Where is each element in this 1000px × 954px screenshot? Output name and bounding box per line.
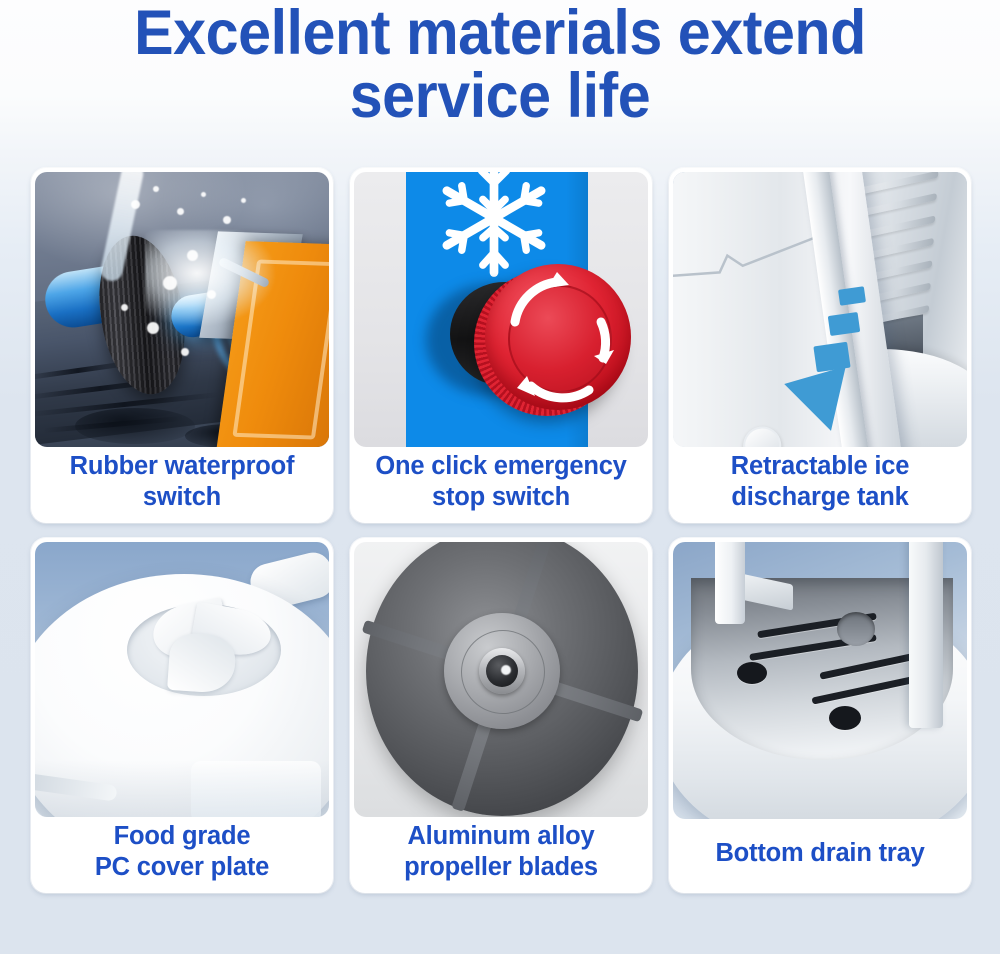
water-droplet bbox=[207, 290, 216, 299]
water-droplet bbox=[147, 322, 159, 334]
card-caption: Food grade PC cover plate bbox=[31, 817, 333, 893]
feature-card-rubber-waterproof-switch: Rubber waterproof switch bbox=[31, 168, 333, 523]
transparent-body bbox=[191, 761, 321, 817]
page-title: Excellent materials extend service life bbox=[30, 2, 970, 128]
drain-hole bbox=[737, 662, 767, 684]
feature-card-food-grade-pc-cover-plate: Food grade PC cover plate bbox=[31, 538, 333, 893]
arrow-dash bbox=[828, 312, 860, 336]
card-caption: One click emergency stop switch bbox=[350, 447, 652, 523]
card-caption: Retractable ice discharge tank bbox=[669, 447, 971, 523]
rotation-arrows-icon bbox=[485, 264, 631, 410]
infographic-page: Excellent materials extend service life bbox=[0, 0, 1000, 954]
water-droplet bbox=[131, 200, 140, 209]
feature-card-retractable-ice-discharge-tank: Retractable ice discharge tank bbox=[669, 168, 971, 523]
water-droplet bbox=[121, 304, 128, 311]
support-post-right bbox=[909, 542, 943, 728]
bottom-drain-tray-photo bbox=[673, 542, 967, 819]
chute-release-tab[interactable] bbox=[741, 424, 784, 447]
card-caption: Rubber waterproof switch bbox=[31, 447, 333, 523]
drain-hole bbox=[829, 706, 861, 730]
water-pool bbox=[75, 408, 195, 444]
support-post-left bbox=[715, 542, 745, 624]
water-droplet bbox=[177, 208, 184, 215]
rubber-waterproof-switch-photo bbox=[35, 172, 329, 447]
drain-slot bbox=[811, 674, 922, 704]
food-grade-pc-cover-plate-photo bbox=[35, 542, 329, 817]
water-droplet bbox=[241, 198, 246, 203]
feature-card-aluminum-alloy-propeller-blades: Aluminum alloy propeller blades bbox=[350, 538, 652, 893]
aluminum-alloy-propeller-blades-photo bbox=[354, 542, 648, 817]
water-droplet bbox=[163, 276, 177, 290]
feature-card-bottom-drain-tray: Bottom drain tray bbox=[669, 538, 971, 893]
retractable-ice-discharge-tank-photo bbox=[673, 172, 967, 447]
emergency-stop-switch-photo bbox=[354, 172, 648, 447]
water-droplet bbox=[181, 348, 189, 356]
tray-notch bbox=[837, 612, 875, 646]
water-droplet bbox=[187, 250, 198, 261]
feature-card-grid: Rubber waterproof switch bbox=[31, 168, 972, 893]
card-caption: Aluminum alloy propeller blades bbox=[350, 817, 652, 893]
card-caption: Bottom drain tray bbox=[669, 819, 971, 893]
drain-slot bbox=[819, 651, 922, 679]
propeller-disc bbox=[366, 542, 638, 816]
feature-card-emergency-stop-switch: One click emergency stop switch bbox=[350, 168, 652, 523]
chute-notch bbox=[673, 218, 831, 308]
water-droplet bbox=[201, 192, 206, 197]
nut-highlight bbox=[501, 665, 511, 675]
water-droplet bbox=[153, 186, 159, 192]
water-droplet bbox=[223, 216, 231, 224]
